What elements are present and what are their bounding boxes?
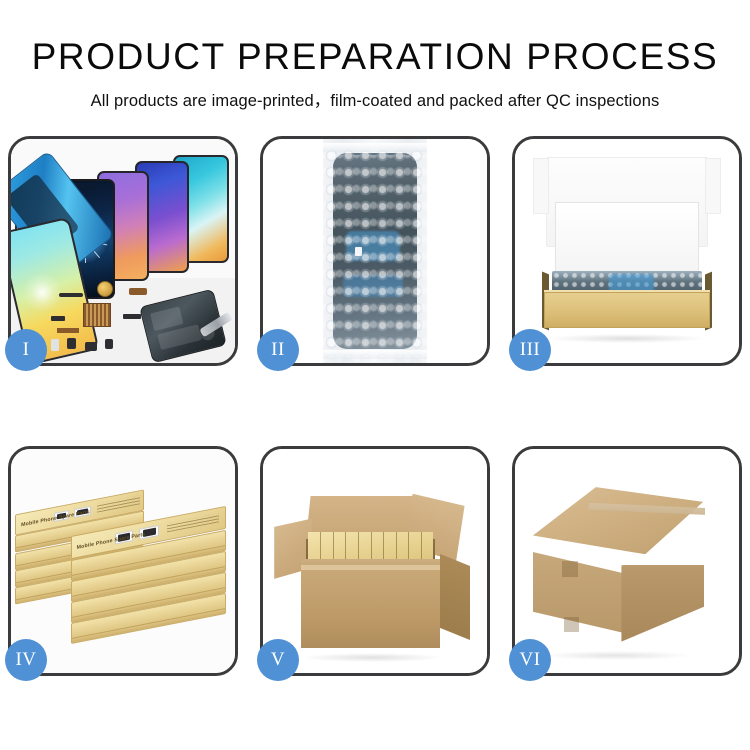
part-vibration-motor [97, 281, 113, 297]
step-badge-6: VI [509, 639, 551, 681]
page-subtitle: All products are image-printed，film-coat… [0, 75, 750, 110]
step-badge-5: V [257, 639, 299, 681]
carton-side-face [440, 554, 470, 640]
step-badge-4: IV [5, 639, 47, 681]
part-battery-small [51, 339, 59, 351]
wrap-seal-bottom [323, 350, 427, 359]
step-4-image: Mobile Phone Spare Parts Mobile Phone Sp… [11, 449, 235, 673]
mailer-box-front-panel [544, 292, 710, 328]
process-step-grid: I II [8, 136, 742, 682]
part-flex-cable-brown [129, 288, 147, 295]
part-sim-tray [105, 339, 113, 349]
step-2-image [263, 139, 487, 363]
step-5-image [263, 449, 487, 673]
part-connector-cable [57, 328, 79, 333]
step-badge-2: II [257, 329, 299, 371]
step-6-image [515, 449, 739, 673]
header: PRODUCT PREPARATION PROCESS All products… [0, 0, 750, 110]
housing-camera-cutout [150, 306, 183, 331]
sealed-carton-shadow [542, 651, 690, 660]
part-camera-module [67, 338, 76, 349]
process-step-1: I [8, 136, 238, 366]
sealed-carton-top-face [533, 487, 703, 554]
bubble-texture-secondary [323, 155, 427, 363]
product-preparation-infographic: PRODUCT PREPARATION PROCESS All products… [0, 0, 750, 750]
part-antenna-strip [123, 314, 141, 319]
step-3-image [515, 139, 739, 363]
process-step-4: Mobile Phone Spare Parts Mobile Phone Sp… [8, 446, 238, 676]
carton-shadow [303, 653, 442, 662]
part-speaker [85, 342, 97, 351]
carton-front-face [301, 570, 440, 648]
process-step-6: VI [512, 446, 742, 676]
part-flex-strip [59, 293, 83, 297]
process-step-3: III [512, 136, 742, 366]
carton-handle-cutout-lower [564, 617, 579, 632]
mailer-box-shadow [549, 334, 706, 343]
sealed-carton-side-face [621, 565, 704, 641]
wrap-seal-top [323, 143, 427, 152]
process-step-2: II [260, 136, 490, 366]
step-1-image [11, 139, 235, 363]
part-bracket [51, 316, 65, 321]
step-badge-3: III [509, 329, 551, 371]
carton-handle-cutout-upper [562, 561, 578, 577]
retail-box-stack: Mobile Phone Spare Parts Mobile Phone Sp… [15, 471, 230, 664]
part-screw-tray [83, 303, 111, 327]
step-badge-1: I [5, 329, 47, 371]
process-step-5: V [260, 446, 490, 676]
page-title: PRODUCT PREPARATION PROCESS [0, 0, 750, 75]
